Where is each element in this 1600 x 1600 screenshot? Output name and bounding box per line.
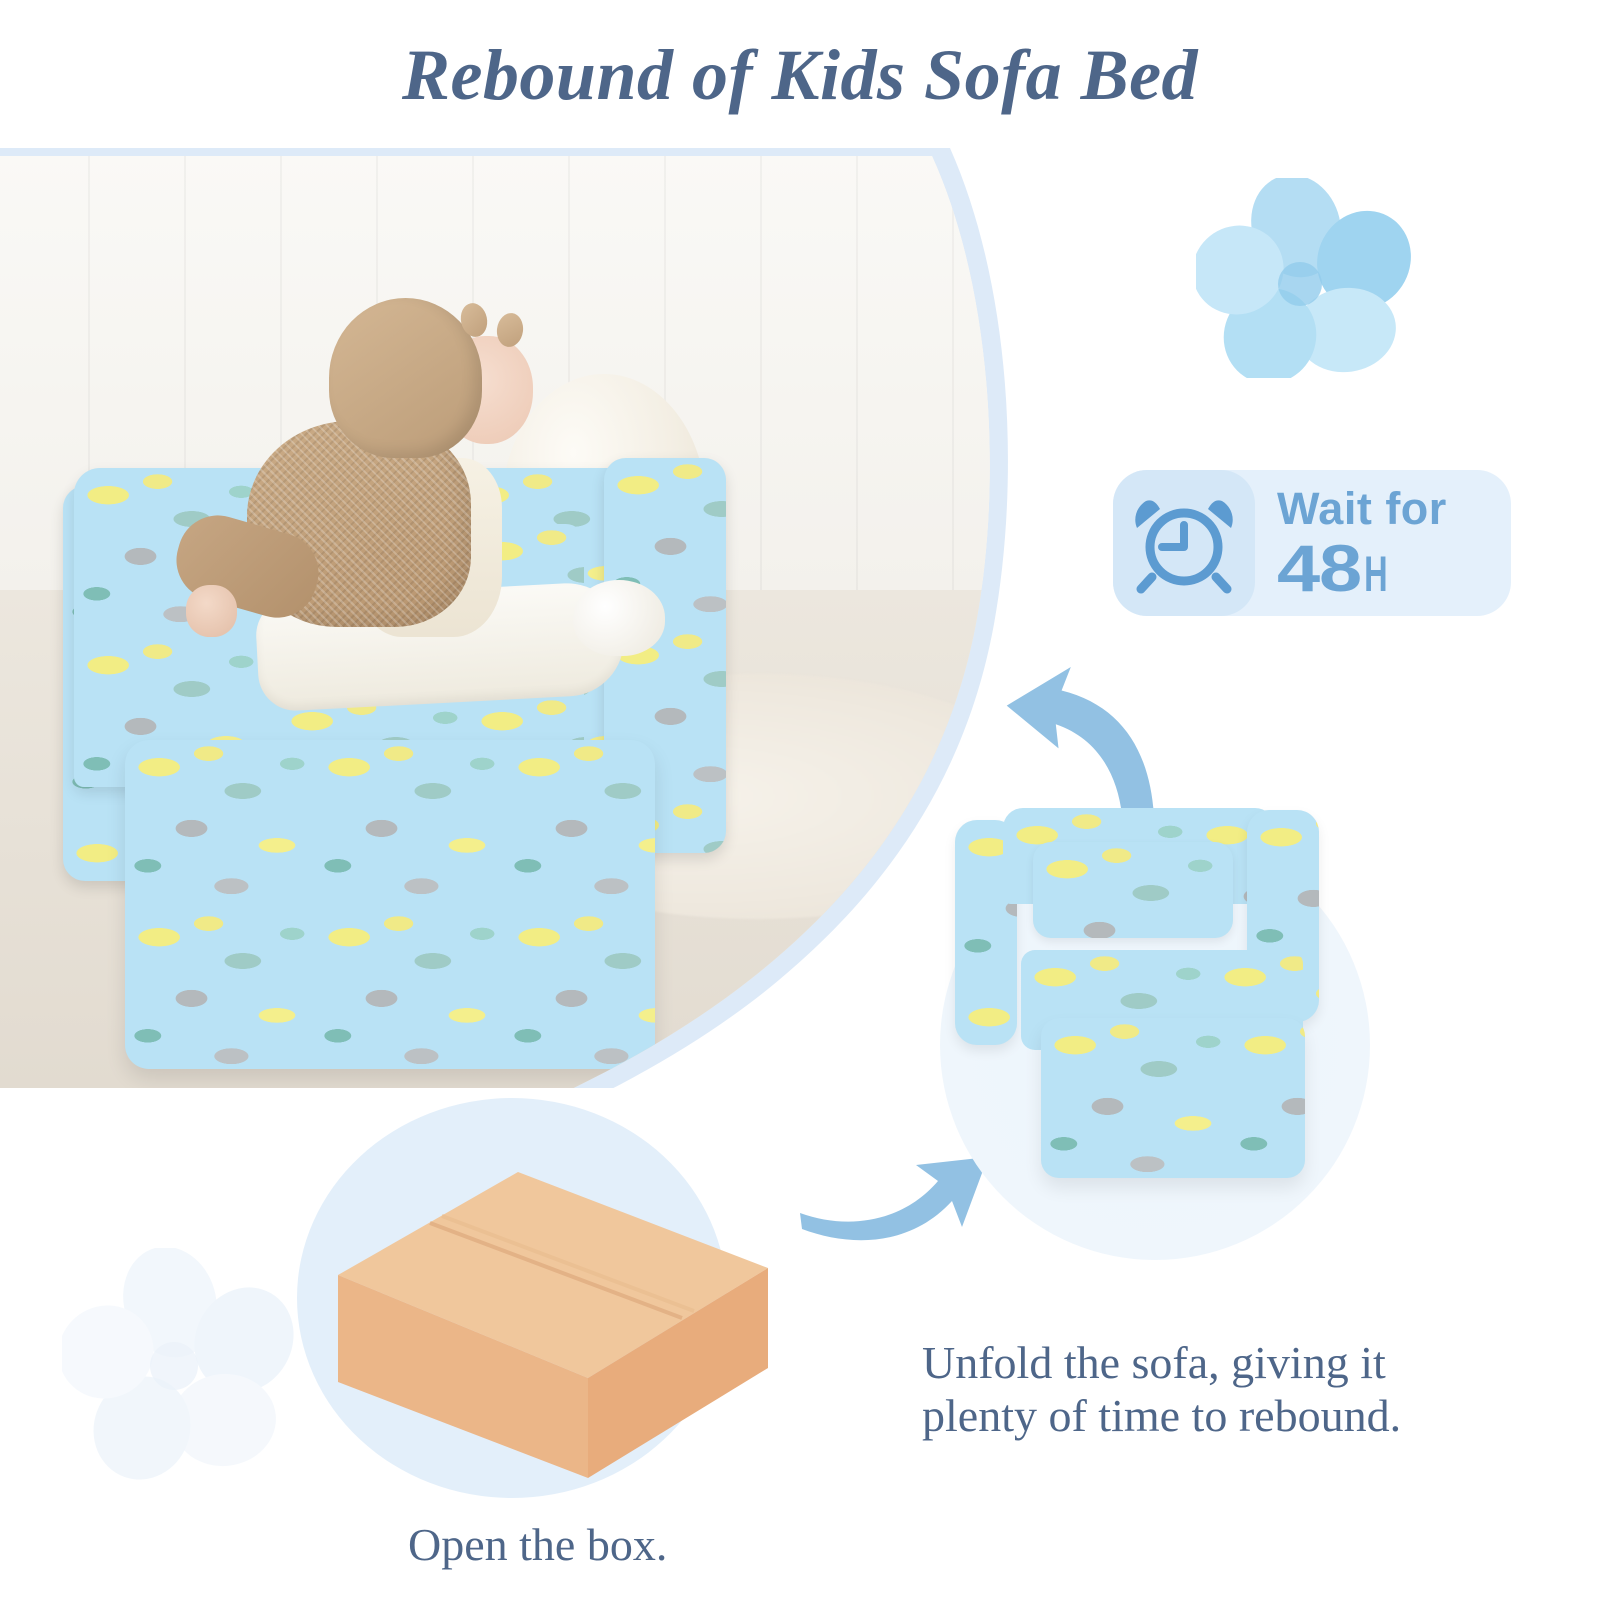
arrow-to-hero-icon — [975, 645, 1165, 815]
sofa-bed-extension — [125, 740, 655, 1069]
pale-flower-icon — [62, 1248, 312, 1488]
badge-icon-container — [1113, 470, 1255, 616]
page-title: Rebound of Kids Sofa Bed — [0, 34, 1600, 117]
baby-bonnet — [329, 298, 482, 458]
alarm-clock-icon — [1130, 491, 1238, 595]
unfold-caption: Unfold the sofa, giving it plenty of tim… — [922, 1336, 1462, 1443]
unfolded-sofa-illustration — [955, 800, 1365, 1190]
infographic-canvas: Rebound of Kids Sofa Bed — [0, 0, 1600, 1600]
blue-flower-icon — [1196, 178, 1426, 378]
open-box-caption: Open the box. — [408, 1518, 828, 1571]
hero-photo — [0, 148, 1012, 1088]
wait-duration-badge: Wait for 48H — [1113, 470, 1511, 616]
small-sofa-bed-extension — [1041, 1018, 1305, 1178]
wait-label: Wait for — [1277, 486, 1447, 531]
cardboard-box-icon — [330, 1160, 780, 1490]
duration-value: 48H — [1277, 535, 1455, 601]
hero-photo-clip — [0, 148, 1012, 1088]
duration-unit: H — [1365, 549, 1387, 599]
room-scene — [0, 148, 1012, 1088]
badge-text-block: Wait for 48H — [1255, 486, 1447, 601]
duration-number: 48 — [1277, 535, 1361, 601]
small-sofa-pillow — [1033, 842, 1233, 938]
baby-hand — [186, 585, 237, 637]
baby-foot — [573, 580, 665, 655]
